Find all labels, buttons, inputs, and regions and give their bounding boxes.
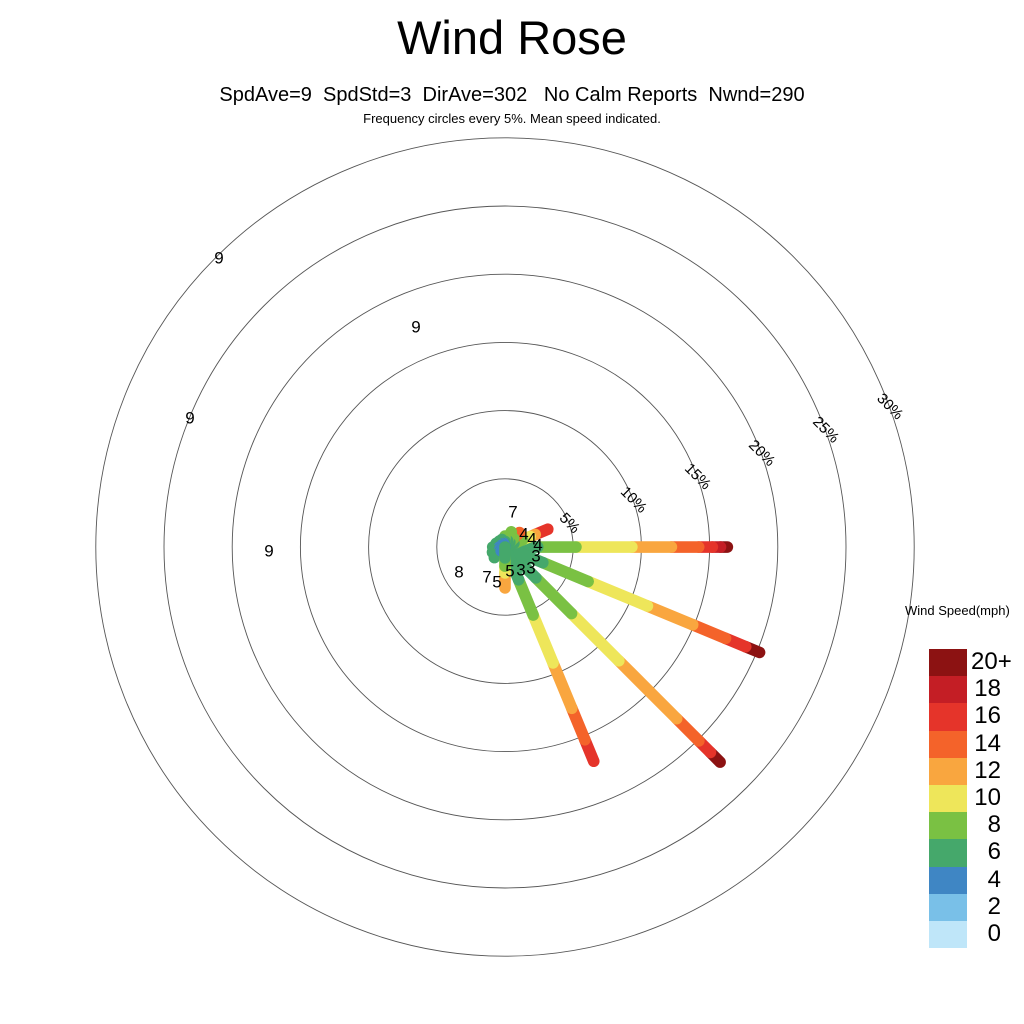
legend-entry: 18 (929, 676, 967, 703)
legend-label: 16 (971, 702, 1001, 729)
ring-label: 5% (556, 510, 583, 537)
legend-label: 20+ (971, 648, 1024, 675)
ring-labels: 5%10%15%20%25%30% (556, 390, 907, 537)
legend-label: 12 (971, 757, 1001, 784)
legend-color-swatch (929, 785, 967, 812)
ring-label: 10% (617, 483, 650, 516)
legend-entry: 4 (929, 867, 967, 894)
wind-petal (505, 547, 720, 762)
legend-label: 2 (971, 893, 1001, 920)
petal-mean-speed-label: 5 (505, 561, 514, 580)
petal-mean-speed-label: 9 (185, 408, 194, 427)
petal-mean-speed-label: 3 (516, 560, 525, 579)
wind-rose-plot: 5%10%15%20%25%30%999974443335578 (0, 0, 1024, 1024)
legend-entry: 10 (929, 785, 967, 812)
petal-segment (588, 581, 647, 606)
ring-label: 20% (745, 437, 778, 470)
ring-label: 30% (873, 390, 906, 423)
petal-mean-speed-label: 3 (526, 558, 535, 577)
legend-label: 4 (971, 866, 1001, 893)
petal-label-layer: 999974443335578 (185, 248, 542, 591)
legend-entry: 6 (929, 839, 967, 866)
legend-color-swatch (929, 894, 967, 921)
legend-color-swatch (929, 921, 967, 948)
petal-segment (533, 615, 553, 663)
petal-mean-speed-label: 9 (411, 317, 420, 336)
legend-entry: 0 (929, 921, 967, 948)
legend-label: 6 (971, 838, 1001, 865)
legend-label: 18 (971, 675, 1001, 702)
legend-title: Wind Speed(mph) (905, 603, 1010, 618)
legend-color-swatch (929, 867, 967, 894)
legend-entry: 14 (929, 731, 967, 758)
petal-segment (619, 661, 677, 719)
legend-entry: 8 (929, 812, 967, 839)
legend-swatches: 20+181614121086420 (929, 649, 967, 948)
petal-segment (647, 606, 692, 625)
wind-rose-page: Wind Rose SpdAve=9 SpdStd=3 DirAve=302 N… (0, 0, 1024, 1024)
legend-label: 8 (971, 811, 1001, 838)
petal-mean-speed-label: 7 (508, 502, 517, 521)
legend-entry: 16 (929, 703, 967, 730)
legend-entry: 20+ (929, 649, 967, 676)
legend-entry: 12 (929, 758, 967, 785)
petal-mean-speed-label: 5 (492, 572, 501, 591)
petal-segment (536, 578, 572, 614)
petal-mean-speed-label: 9 (264, 541, 273, 560)
legend-color-swatch (929, 703, 967, 730)
legend-color-swatch (929, 812, 967, 839)
legend-label: 14 (971, 730, 1001, 757)
ring-label: 15% (681, 460, 714, 493)
petal-segment (553, 663, 572, 708)
legend-label: 0 (971, 920, 1001, 947)
legend-color-swatch (929, 758, 967, 785)
legend-label: 10 (971, 784, 1001, 811)
legend-color-swatch (929, 649, 967, 676)
legend-color-swatch (929, 839, 967, 866)
petal-segment (572, 614, 619, 661)
legend-color-swatch (929, 676, 967, 703)
petal-mean-speed-label: 9 (214, 248, 223, 267)
petal-mean-speed-label: 7 (482, 567, 491, 586)
ring-label: 25% (809, 413, 842, 446)
legend-color-swatch (929, 731, 967, 758)
petal-mean-speed-label: 8 (454, 562, 463, 581)
legend-entry: 2 (929, 894, 967, 921)
